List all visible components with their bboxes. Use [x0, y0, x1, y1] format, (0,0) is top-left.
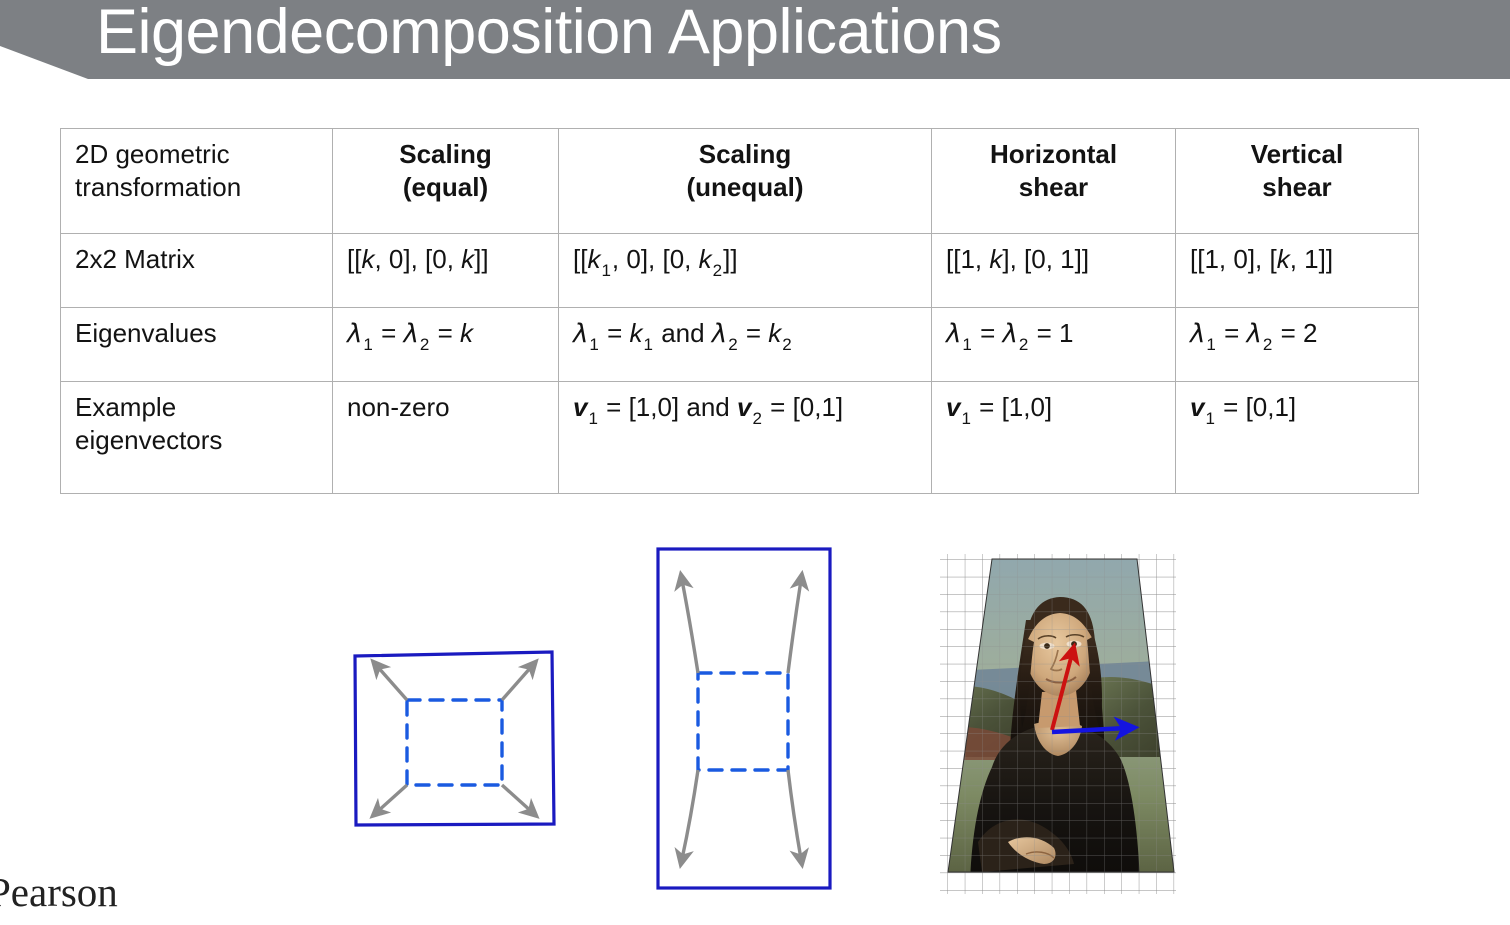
- arrow-up-right: [788, 580, 801, 673]
- eigenvalues-horizontal-shear: λ1 = λ2 = 1: [932, 308, 1176, 382]
- page-title: Eigendecomposition Applications: [96, 0, 1002, 72]
- header-line-2: (unequal): [687, 172, 804, 202]
- matrix-horizontal-shear: [[1, k], [0, 1]]: [932, 234, 1176, 308]
- arrow-down-left: [682, 770, 698, 859]
- eigenvectors-horizontal-shear: v1 = [1,0]: [932, 382, 1176, 494]
- eigenvectors-scaling-equal: non-zero: [333, 382, 559, 494]
- eigenvectors-vertical-shear: v1 = [0,1]: [1176, 382, 1419, 494]
- row-label-matrix: 2x2 Matrix: [61, 234, 333, 308]
- outer-rect-outline: [658, 549, 830, 888]
- matrix-scaling-equal: [[k, 0], [0, k]]: [333, 234, 559, 308]
- eigenvalues-scaling-unequal: λ1 = k1 and λ2 = k2: [559, 308, 932, 382]
- column-header-scaling-unequal: Scaling (unequal): [559, 129, 932, 234]
- table-row: 2D geometric transformation Scaling (equ…: [61, 129, 1419, 234]
- matrix-vertical-shear: [[1, 0], [k, 1]]: [1176, 234, 1419, 308]
- mona-lisa-shear-figure: [930, 542, 1180, 905]
- column-header-vertical-shear: Vertical shear: [1176, 129, 1419, 234]
- inner-dashed-square: [698, 673, 788, 770]
- eigenvectors-scaling-unequal: v1 = [1,0] and v2 = [0,1]: [559, 382, 932, 494]
- outer-square-outline: [355, 652, 554, 825]
- arrow-up-right: [502, 666, 532, 700]
- table-row: Eigenvalues λ1 = λ2 = k λ1 = k1 and λ2 =…: [61, 308, 1419, 382]
- row-label-transformation: 2D geometric transformation: [61, 129, 333, 234]
- figures-row: [0, 500, 1510, 925]
- equal-scaling-diagram: [352, 628, 557, 828]
- table-row: 2x2 Matrix [[k, 0], [0, k]] [[k1, 0], [0…: [61, 234, 1419, 308]
- inner-dashed-square: [407, 700, 502, 785]
- column-header-horizontal-shear: Horizontal shear: [932, 129, 1176, 234]
- arrow-down-right: [502, 785, 532, 812]
- pearson-logo: Pearson: [0, 868, 118, 916]
- eigendecomposition-table: 2D geometric transformation Scaling (equ…: [60, 128, 1419, 494]
- header-line-1: Vertical: [1251, 139, 1344, 169]
- unequal-scaling-diagram: [655, 546, 833, 891]
- header-line-2: shear: [1019, 172, 1088, 202]
- arrow-up-left: [377, 666, 407, 700]
- header-line-2: shear: [1262, 172, 1331, 202]
- column-header-scaling-equal: Scaling (equal): [333, 129, 559, 234]
- arrow-down-left: [377, 785, 407, 812]
- eigenvalues-scaling-equal: λ1 = λ2 = k: [333, 308, 559, 382]
- header-line-1: Horizontal: [990, 139, 1117, 169]
- row-label-eigenvectors: Example eigenvectors: [61, 382, 333, 494]
- eigenvalues-vertical-shear: λ1 = λ2 = 2: [1176, 308, 1419, 382]
- header-line-2: (equal): [403, 172, 488, 202]
- arrow-up-left: [682, 580, 698, 673]
- table-row: Example eigenvectors non-zero v1 = [1,0]…: [61, 382, 1419, 494]
- header-line-1: Scaling: [399, 139, 491, 169]
- arrow-down-right: [788, 770, 801, 859]
- matrix-scaling-unequal: [[k1, 0], [0, k2]]: [559, 234, 932, 308]
- header-line-1: Scaling: [699, 139, 791, 169]
- row-label-eigenvalues: Eigenvalues: [61, 308, 333, 382]
